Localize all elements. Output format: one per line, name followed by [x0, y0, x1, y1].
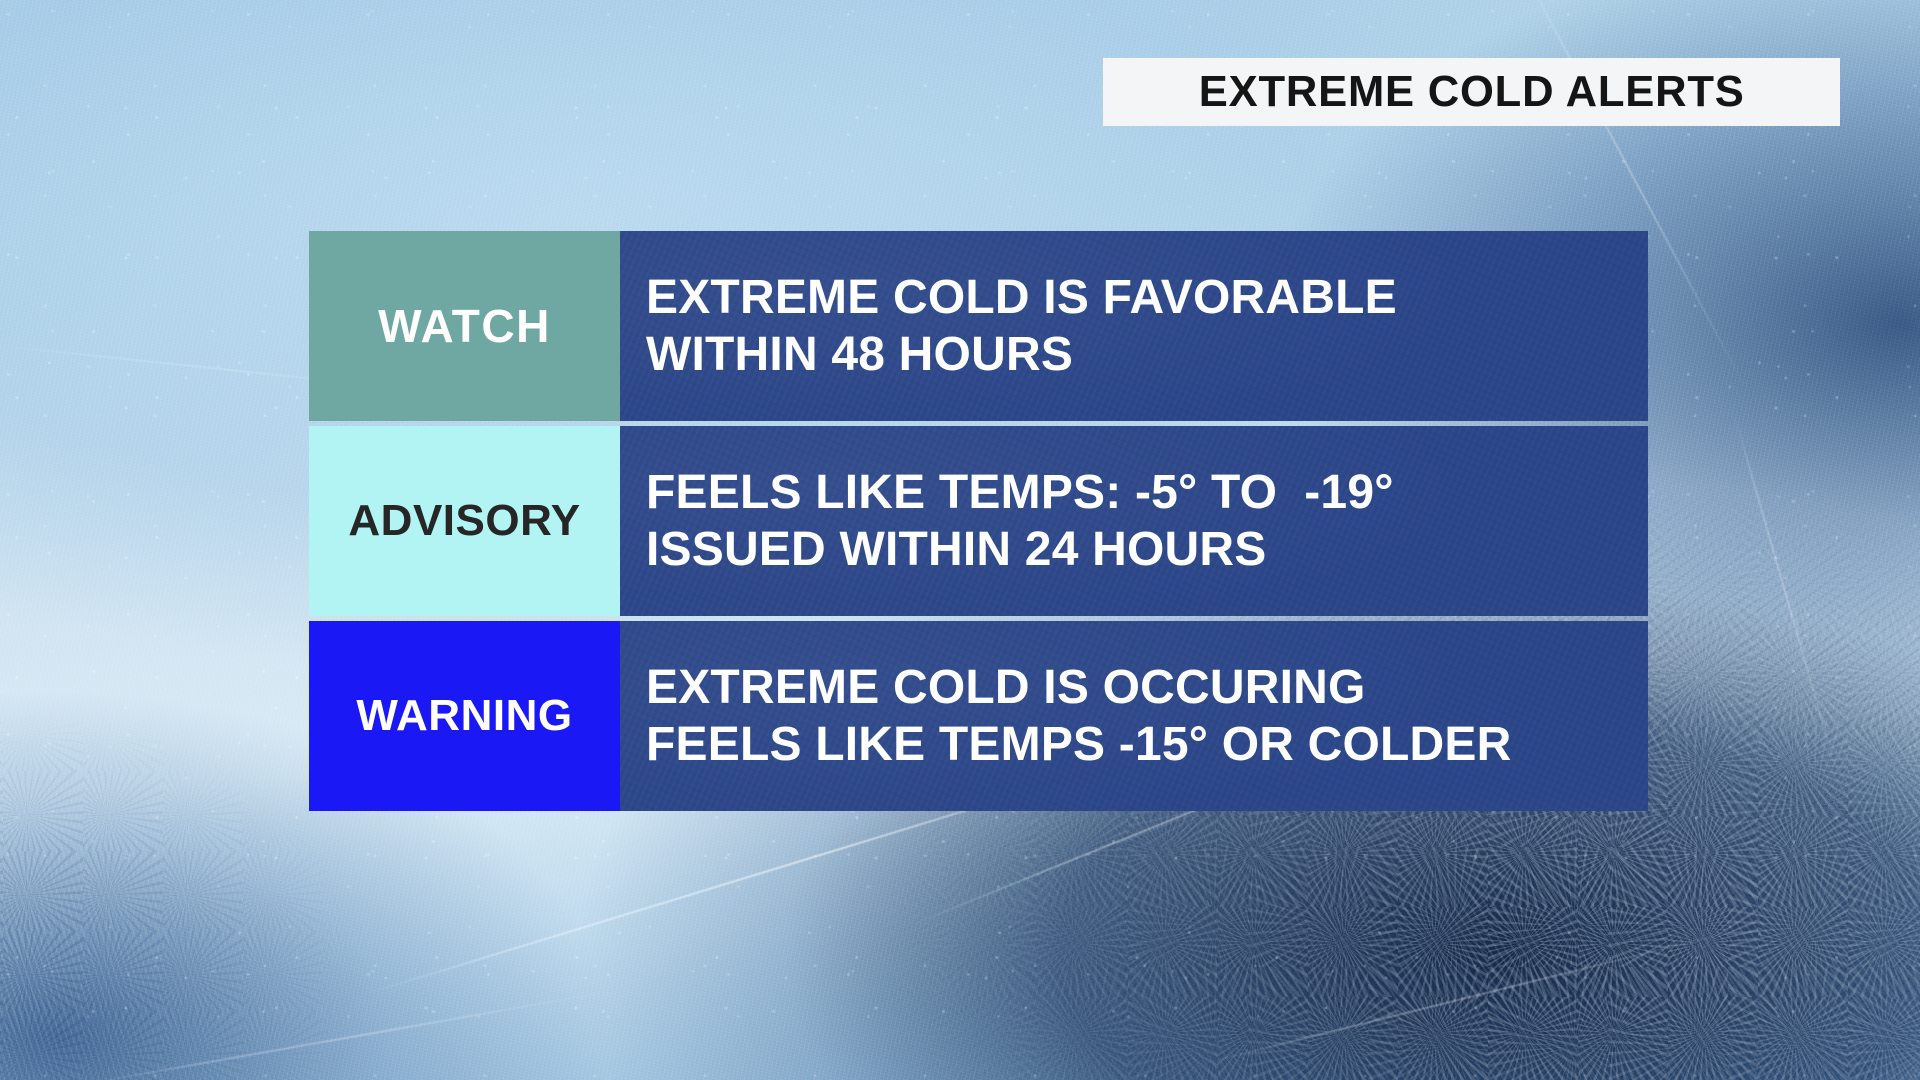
- table-row: WARNING EXTREME COLD IS OCCURING FEELS L…: [309, 621, 1648, 811]
- ice-crack-line: [1199, 924, 1758, 1065]
- table-row: WATCH EXTREME COLD IS FAVORABLE WITHIN 4…: [309, 231, 1648, 421]
- table-row: ADVISORY FEELS LIKE TEMPS: -5° TO -19° I…: [309, 426, 1648, 616]
- alert-description-line-1: EXTREME COLD IS FAVORABLE: [646, 269, 1634, 326]
- alert-level-label: WATCH: [378, 299, 551, 353]
- alert-level-label: ADVISORY: [348, 496, 580, 546]
- page-title: EXTREME COLD ALERTS: [1199, 67, 1745, 117]
- alert-description-line-2: FEELS LIKE TEMPS -15° OR COLDER: [646, 716, 1634, 773]
- alert-description-cell-warning: EXTREME COLD IS OCCURING FEELS LIKE TEMP…: [620, 621, 1648, 811]
- alert-level-cell-warning: WARNING: [309, 621, 620, 811]
- alert-level-cell-watch: WATCH: [309, 231, 620, 421]
- extreme-cold-alert-table: WATCH EXTREME COLD IS FAVORABLE WITHIN 4…: [309, 231, 1648, 811]
- alert-description-line-1: FEELS LIKE TEMPS: -5° TO -19°: [646, 464, 1634, 521]
- alert-description-line-2: ISSUED WITHIN 24 HOURS: [646, 521, 1634, 578]
- alert-level-label: WARNING: [356, 691, 572, 741]
- alert-description-line-2: WITHIN 48 HOURS: [646, 326, 1634, 383]
- title-banner: EXTREME COLD ALERTS: [1103, 58, 1840, 126]
- alert-description-line-1: EXTREME COLD IS OCCURING: [646, 659, 1634, 716]
- alert-description-cell-advisory: FEELS LIKE TEMPS: -5° TO -19° ISSUED WIT…: [620, 426, 1648, 616]
- alert-level-cell-advisory: ADVISORY: [309, 426, 620, 616]
- alert-description-cell-watch: EXTREME COLD IS FAVORABLE WITHIN 48 HOUR…: [620, 231, 1648, 421]
- ice-crack-line: [81, 990, 611, 1080]
- weather-graphic-stage: EXTREME COLD ALERTS WATCH EXTREME COLD I…: [0, 0, 1920, 1080]
- ice-crack-line: [1732, 410, 1840, 780]
